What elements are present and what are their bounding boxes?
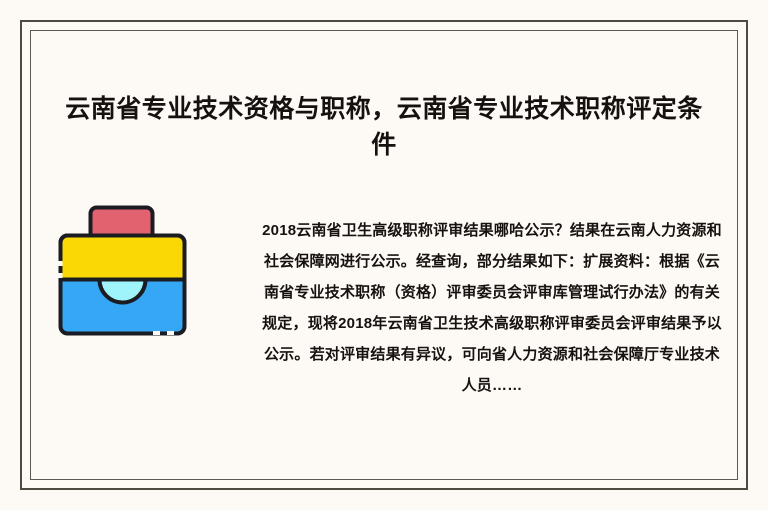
content-area: 2018云南省卫生高级职称评审结果哪哈公示？结果在云南人力资源和社会保障网进行公… xyxy=(40,186,728,426)
briefcase-accent-dot-left xyxy=(59,261,63,266)
page-title: 云南省专业技术资格与职称，云南省专业技术职称评定条件 xyxy=(56,91,712,164)
briefcase-accent-dot-bottom xyxy=(153,331,160,335)
briefcase-band-icon xyxy=(61,236,185,280)
article-body: 2018云南省卫生高级职称评审结果哪哈公示？结果在云南人力资源和社会保障网进行公… xyxy=(262,215,722,401)
briefcase-folder-illustration xyxy=(52,195,200,343)
page-root: 云南省专业技术资格与职称，云南省专业技术职称评定条件 2018云南省卫生高级职称 xyxy=(0,0,768,510)
briefcase-accent-dot-bottom-2 xyxy=(167,331,174,335)
briefcase-accent-dot-left-2 xyxy=(59,273,63,278)
